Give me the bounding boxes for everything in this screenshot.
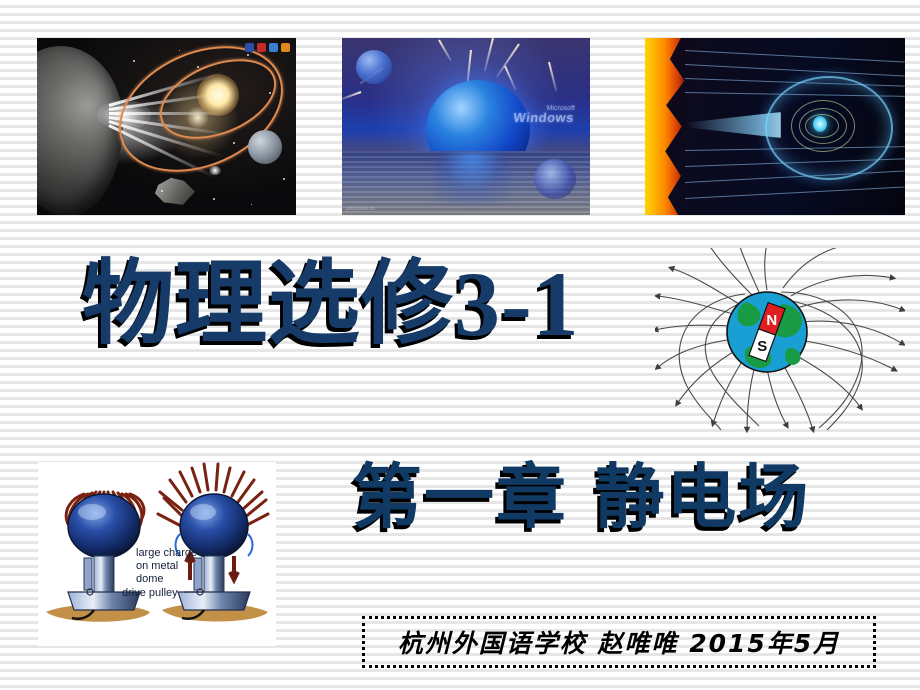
vdg-label-pulley: drive pulley (122, 587, 178, 599)
credit-text: 杭州外国语学校 赵唯唯 2015年5月 (398, 624, 840, 660)
photo-solar-wind-magnetosphere (645, 38, 905, 215)
xp-sphere-reflection (434, 153, 510, 205)
vdg-label-charge-line1: large charge (136, 547, 197, 559)
van-de-graaff-illustration: large charge on metal dome drive pulley (38, 462, 276, 646)
xp-bubble (534, 159, 576, 199)
vdg-left (66, 492, 144, 619)
agency-logos (245, 43, 290, 52)
earth-magnetic-field-diagram: N S (655, 248, 905, 443)
xp-credit-watermark: pixelsweb.de (346, 206, 375, 212)
vdg-label-charge-line3: dome (136, 573, 164, 585)
xp-small-sphere (356, 50, 392, 84)
xp-wordmark-main: Windows (513, 113, 574, 122)
vdg-label-charge-line2: on metal (136, 560, 178, 572)
asteroid-shape (37, 46, 123, 215)
svg-text:N: N (766, 312, 777, 329)
chapter-subtitle: 第一章 静电场 (352, 462, 810, 532)
page-title: 物理选修3-1 (82, 258, 580, 350)
photo-comet-asteroid-space (37, 38, 296, 215)
sun-glow (197, 74, 239, 116)
svg-text:S: S (757, 338, 767, 355)
credit-box: 杭州外国语学校 赵唯唯 2015年5月 (362, 616, 876, 668)
moonlet-planet (248, 130, 282, 164)
earth-marker (813, 116, 827, 132)
comet-head (209, 166, 221, 175)
xp-wordmark: Microsoft Windows (513, 104, 575, 122)
photo-windows-xp-sphere: Microsoft Windows pixelsweb.de (342, 38, 590, 215)
slide-canvas: Microsoft Windows pixelsweb.de 物理选修3-1 第… (0, 0, 920, 690)
